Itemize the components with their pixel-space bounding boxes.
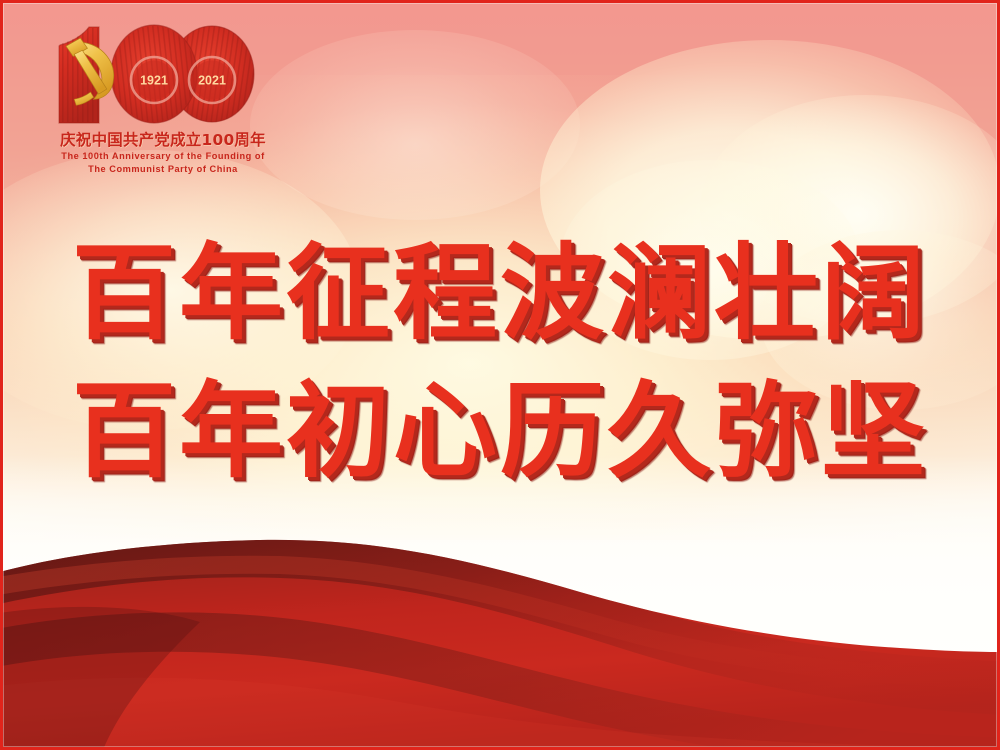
cpc-anniversary-logo: 1921 2021 xyxy=(38,22,288,190)
logo-year-end-text: 2021 xyxy=(198,74,226,88)
logo-caption-chinese: 庆祝中国共产党成立100周年 xyxy=(38,128,288,150)
poster-canvas: 1921 2021 xyxy=(0,0,1000,750)
red-silk-ribbon-wave xyxy=(0,520,1000,750)
logo-caption-english-line2: The Communist Party of China xyxy=(38,163,288,176)
logo-year-ring-1921: 1921 xyxy=(131,57,177,103)
logo-year-start-text: 1921 xyxy=(140,74,168,88)
logo-caption-english-line1: The 100th Anniversary of the Founding of xyxy=(38,150,288,163)
logo-year-ring-2021: 2021 xyxy=(189,57,235,103)
slogan-block: 百年征程波澜壮阔 百年初心历久弥坚 xyxy=(0,226,1000,498)
slogan-line-2: 百年初心历久弥坚 xyxy=(0,364,1000,498)
slogan-line-1: 百年征程波澜壮阔 xyxy=(0,226,1000,360)
logo-numeral-mark: 1921 2021 xyxy=(52,22,257,126)
